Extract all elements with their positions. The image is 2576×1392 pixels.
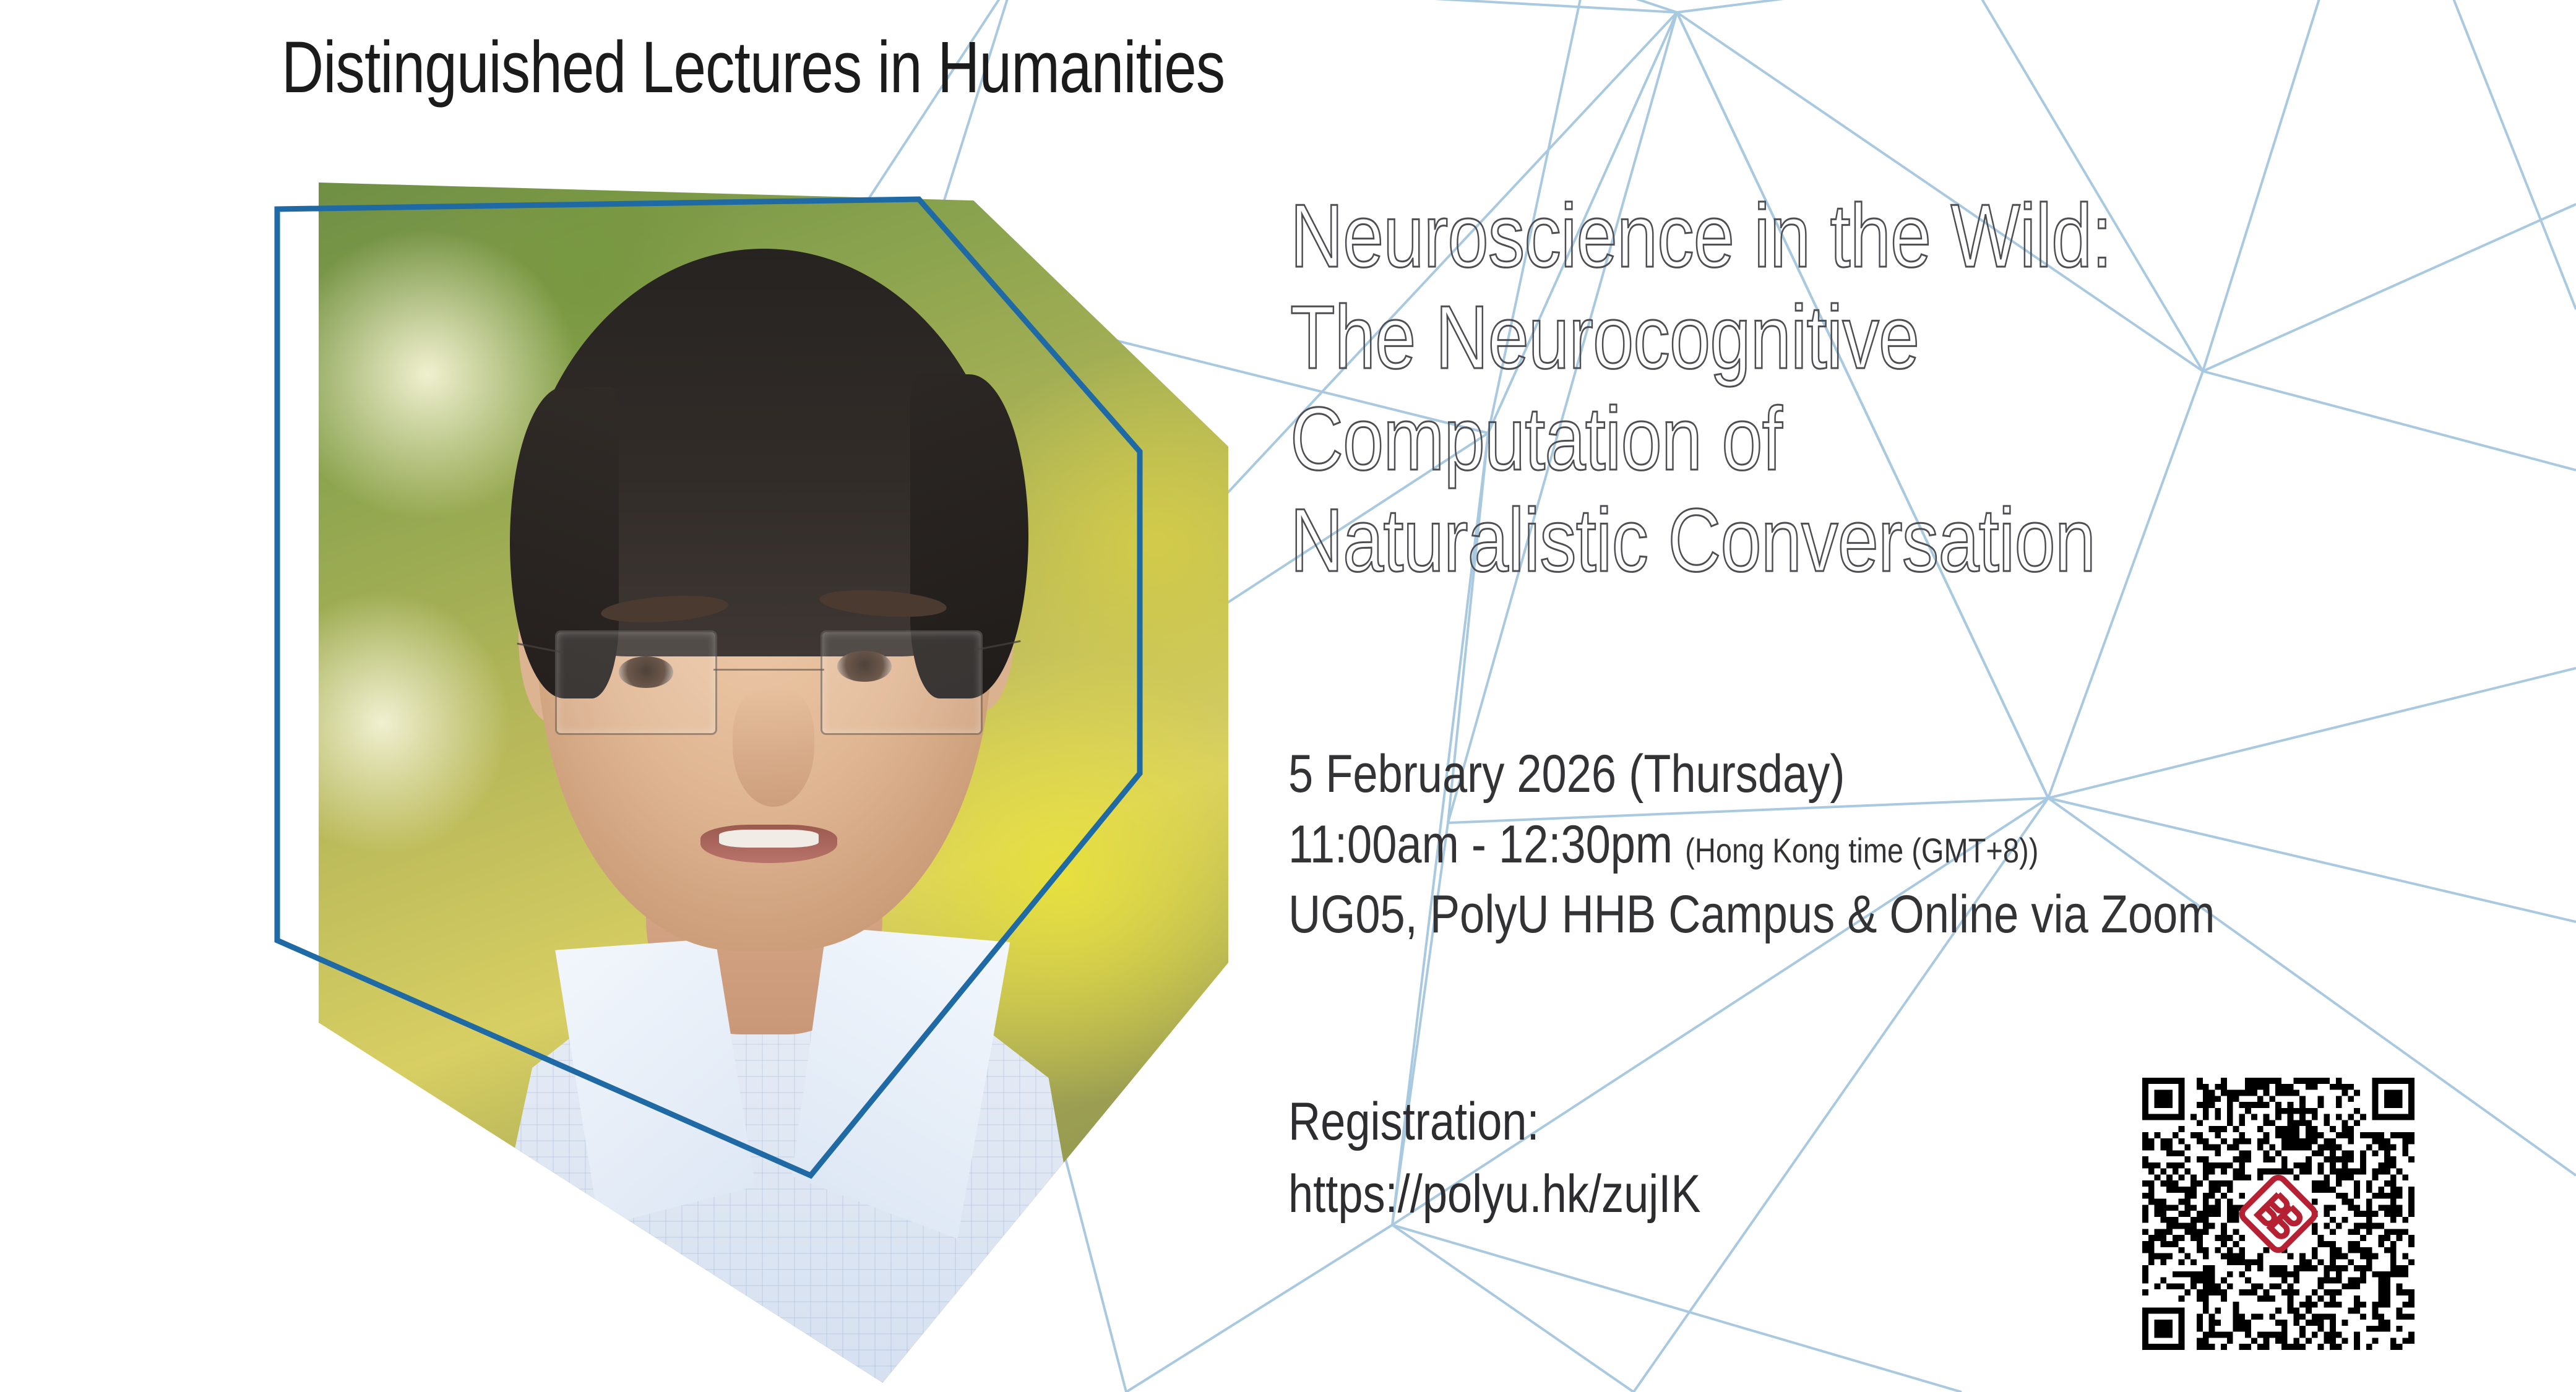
registration-url[interactable]: https://polyu.hk/zujIK [1288, 1158, 1701, 1231]
event-date: 5 February 2026 (Thursday) [1288, 739, 2215, 810]
registration-label: Registration: [1288, 1086, 1701, 1158]
polyu-logo [2238, 1173, 2319, 1255]
event-timezone: (Hong Kong time (GMT+8)) [1685, 831, 2038, 870]
teeth [719, 830, 819, 848]
poster-canvas: Distinguished Lectures in Humanities [0, 0, 2576, 1392]
event-time-row: 11:00am - 12:30pm (Hong Kong time (GMT+8… [1288, 810, 2215, 880]
event-venue: UG05, PolyU HHB Campus & Online via Zoom [1288, 880, 2215, 950]
lens-right [821, 630, 983, 735]
series-title: Distinguished Lectures in Humanities [282, 30, 1225, 106]
glasses [555, 621, 983, 741]
lecture-title: Neuroscience in the Wild: The Neurocogni… [1290, 186, 2305, 591]
registration-qr-code[interactable] [2142, 1078, 2414, 1350]
lens-left [555, 630, 717, 735]
speaker-portrait [319, 183, 1228, 1383]
event-details: 5 February 2026 (Thursday) 11:00am - 12:… [1288, 739, 2215, 950]
event-time: 11:00am - 12:30pm [1288, 815, 1673, 874]
speaker-portrait-image [319, 183, 1228, 1383]
registration-block: Registration: https://polyu.hk/zujIK [1288, 1086, 1701, 1231]
glasses-bridge [713, 669, 825, 671]
